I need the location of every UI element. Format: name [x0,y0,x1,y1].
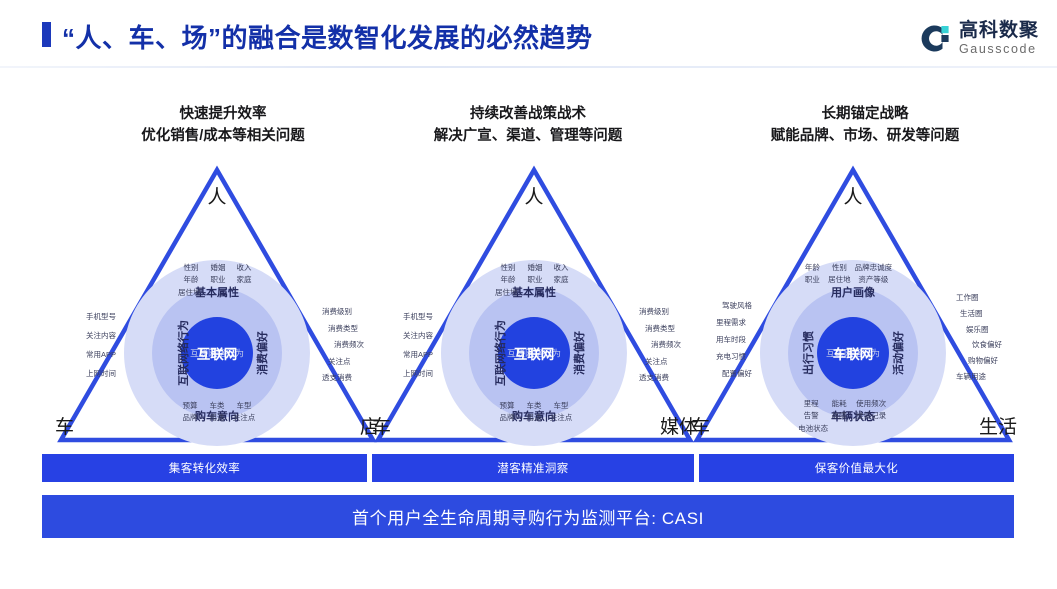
page-title: “人、车、场”的融合是数智化发展的必然趋势 [62,18,593,55]
column-caption-2: 持续改善战策战术 解决广宣、渠道、管理等问题 [363,103,693,148]
triangle-panel-2: 人 车 媒体 互联网络行为 互联网 基本属性 购车意向 互联网络行为 消费偏好 … [369,160,699,450]
bottom-banner[interactable]: 首个用户全生命周期寻购行为监测平台: CASI [42,495,1014,538]
logo-text-cn: 高科数聚 [959,21,1039,40]
triangle-apex-label-1: 人 [207,182,226,209]
outer-cluster-right-2: 消费级别消费类型消费频次关注点透支消费 [645,304,681,387]
triangle-apex-label-2: 人 [524,182,543,209]
triangle-apex-label-3: 人 [843,182,862,209]
outer-cluster-right-1: 消费级别消费类型消费频次关注点透支消费 [328,304,364,387]
ring-core-label-3: 车联网 [833,343,874,363]
title-marker-icon [42,22,51,47]
triangle-corner-left-2: 车 [372,412,391,439]
triangle-panel-1: 人 车 店 互联网络行为 互联网 基本属性 购车意向 互联网络行为 消费偏好 性… [52,160,382,450]
outer-cluster-bottom-1: 预算车类车型 品牌用途关注点 [177,400,257,425]
outer-cluster-left-1: 手机型号关注内容常用APP上网时间 [86,307,116,384]
logo-text-en: Gausscode [959,43,1039,56]
outer-cluster-left-2: 手机型号关注内容常用APP上网时间 [403,307,433,384]
triangle-corner-right-3: 生活 [979,412,1017,439]
column-caption-1: 快速提升效率 优化销售/成本等相关问题 [58,103,388,148]
triangle-panel-3: 人 车 生活 互联网络行为 车联网 用户画像 车辆状态 出行习惯 活动偏好 年龄… [688,160,1018,450]
outer-cluster-top-1: 性别婚姻收入 年龄职业家庭 居住地 [178,262,256,299]
gausscode-g-logo-icon [921,23,952,54]
ring-label-right-1: 消费偏好 [254,331,270,375]
triangle-corner-left-1: 车 [55,412,74,439]
outer-cluster-top-2: 性别婚姻收入 年龄职业家庭 居住地 [495,262,573,299]
outer-cluster-bottom-2: 预算车类车型 品牌用途关注点 [494,400,574,425]
slide-header: “人、车、场”的融合是数智化发展的必然趋势 高科数聚 Gausscode [0,0,1057,66]
bar-row: 集客转化效率 潜客精准洞察 保客价值最大化 [0,454,1057,482]
header-divider [0,66,1057,68]
bar-label-2[interactable]: 潜客精准洞察 [372,454,694,482]
outer-cluster-top-3: 年龄性别品牌忠诚度 职业居住地资产等级 [799,262,893,287]
ring-core-label-2: 互联网 [514,343,555,363]
outer-cluster-left-3: 驾驶风格里程需求用车时段充电习惯配置偏好 [716,298,746,382]
bar-label-3[interactable]: 保客价值最大化 [699,454,1014,482]
triangle-corner-left-3: 车 [691,412,710,439]
column-caption-3: 长期锚定战略 赋能品牌、市场、研发等问题 [700,103,1030,148]
ring-label-right-2: 消费偏好 [571,331,587,375]
outer-cluster-bottom-3: 里程能耗使用频次 告警故障维修记录 电池状态 [798,398,888,435]
ring-core-label-1: 互联网 [197,343,238,363]
ring-label-left-1: 互联网络行为 [175,320,191,386]
ring-label-left-2: 互联网络行为 [492,320,508,386]
ring-label-left-3: 出行习惯 [800,331,816,375]
outer-cluster-right-3: 工作圈生活圈娱乐圈饮食偏好购物偏好车辆用途 [964,290,1002,385]
bar-label-1[interactable]: 集客转化效率 [42,454,367,482]
slide-canvas: “人、车、场”的融合是数智化发展的必然趋势 高科数聚 Gausscode 快速提… [0,0,1057,589]
ring-label-right-3: 活动偏好 [890,331,906,375]
brand-logo: 高科数聚 Gausscode [921,18,1039,58]
